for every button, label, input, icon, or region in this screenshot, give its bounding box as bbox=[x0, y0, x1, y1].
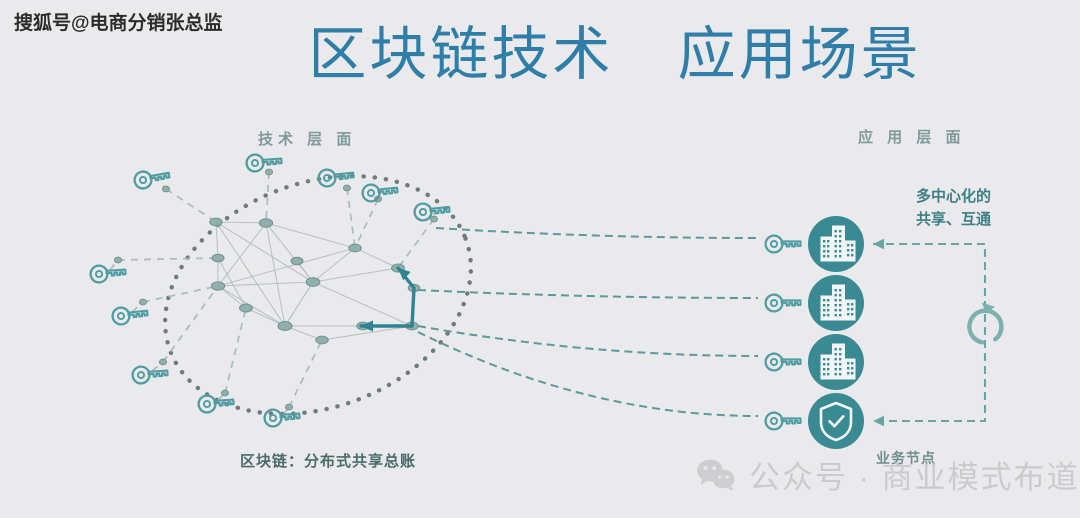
node-spoke bbox=[398, 219, 434, 268]
satellite-node bbox=[430, 216, 437, 222]
feedback-arrowhead bbox=[873, 416, 884, 426]
mesh-node bbox=[212, 254, 224, 261]
satellite-node bbox=[221, 390, 228, 396]
mesh-link bbox=[216, 222, 218, 258]
node-spoke bbox=[143, 286, 218, 302]
mesh-link bbox=[313, 268, 398, 282]
mesh-node bbox=[291, 257, 303, 264]
mesh-link bbox=[355, 248, 398, 268]
mesh-node bbox=[240, 304, 253, 312]
node-spoke bbox=[289, 340, 322, 407]
satellite-node bbox=[162, 186, 169, 192]
cross-layer-connectors bbox=[418, 228, 758, 416]
satellite-node bbox=[285, 404, 292, 410]
application-node-shield-check[interactable] bbox=[808, 393, 864, 449]
mesh-node bbox=[259, 219, 272, 227]
cross-layer-connector bbox=[436, 228, 758, 238]
cross-layer-connector bbox=[418, 326, 758, 356]
mesh-link bbox=[266, 223, 285, 326]
wechat-icon bbox=[696, 458, 736, 492]
cross-layer-connector bbox=[418, 332, 758, 416]
mesh-node bbox=[211, 282, 224, 290]
mesh-link bbox=[285, 282, 313, 326]
satellite-node bbox=[114, 257, 121, 263]
highlighted-transaction-path bbox=[361, 264, 414, 332]
application-node-building[interactable] bbox=[808, 216, 864, 272]
slide-canvas: 搜狐号@电商分销张总监 区块链技术 应用场景 技术 层 面 应 用 层 面 多中… bbox=[0, 0, 1080, 518]
application-node-building[interactable] bbox=[808, 334, 864, 390]
mesh-node bbox=[278, 321, 292, 330]
key-icon bbox=[132, 365, 168, 384]
app-key-icon bbox=[766, 413, 801, 430]
satellite-node bbox=[139, 299, 146, 305]
node-spoke bbox=[347, 188, 355, 248]
mesh-node bbox=[306, 278, 320, 287]
app-key-icon bbox=[766, 295, 801, 312]
feedback-arrowhead bbox=[873, 239, 884, 249]
application-nodes bbox=[808, 216, 864, 449]
blockchain-architecture-diagram bbox=[0, 0, 1080, 518]
key-icon bbox=[112, 305, 148, 325]
satellite-node bbox=[265, 169, 272, 175]
node-spoke bbox=[355, 199, 378, 248]
satellite-node bbox=[343, 185, 350, 191]
key-icons-application bbox=[766, 236, 801, 430]
key-icon bbox=[264, 408, 300, 427]
satellite-node bbox=[159, 359, 166, 365]
mesh-link bbox=[313, 248, 355, 282]
mesh-link bbox=[218, 223, 266, 286]
mesh-link bbox=[216, 222, 266, 223]
key-icon bbox=[246, 153, 282, 172]
app-key-icon bbox=[766, 236, 801, 253]
mesh-node bbox=[210, 218, 222, 226]
mesh-link bbox=[313, 282, 412, 326]
mesh-node bbox=[316, 336, 328, 344]
mesh-link bbox=[266, 223, 355, 248]
wechat-watermark: 公众号 · 商业模式布道 bbox=[696, 452, 1080, 497]
mesh-link bbox=[218, 248, 355, 286]
app-key-icon bbox=[766, 354, 801, 371]
mesh-node bbox=[349, 244, 361, 252]
node-spoke bbox=[166, 189, 216, 222]
node-spoke bbox=[118, 258, 218, 260]
node-spoke bbox=[163, 286, 218, 362]
key-icon bbox=[198, 394, 234, 413]
feedback-loop bbox=[873, 239, 1008, 426]
node-spoke bbox=[225, 308, 246, 393]
key-icon bbox=[90, 264, 126, 283]
wechat-watermark-text: 公众号 · 商业模式布道 bbox=[749, 452, 1080, 497]
application-node-building[interactable] bbox=[808, 275, 864, 331]
key-icons-technical bbox=[90, 153, 450, 427]
blockchain-boundary-ellipse bbox=[130, 134, 505, 456]
key-icon bbox=[318, 167, 354, 187]
